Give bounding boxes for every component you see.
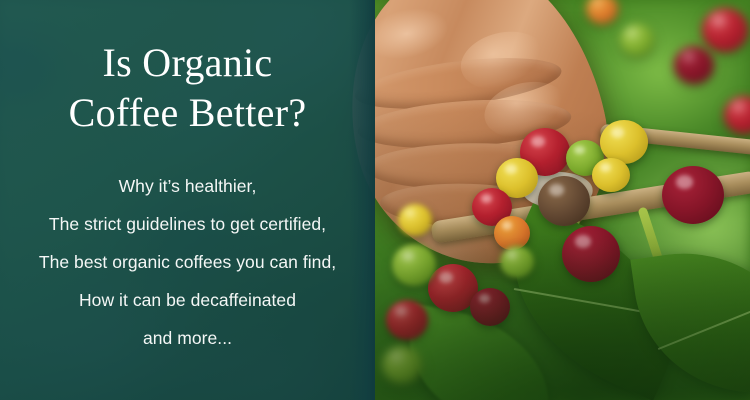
subheadline-line-5: and more... bbox=[39, 319, 336, 357]
panel-content: Is Organic Coffee Better? Why it’s healt… bbox=[0, 0, 375, 400]
subheadline-line-4: How it can be decaffeinated bbox=[39, 281, 336, 319]
subheadline-line-1: Why it’s healthier, bbox=[39, 167, 336, 205]
subheadline: Why it’s healthier, The strict guideline… bbox=[31, 167, 344, 357]
headline-line-1: Is Organic bbox=[69, 38, 307, 88]
hero-banner: Is Organic Coffee Better? Why it’s healt… bbox=[0, 0, 750, 400]
headline-line-2: Coffee Better? bbox=[69, 88, 307, 138]
text-panel: Is Organic Coffee Better? Why it’s healt… bbox=[0, 0, 375, 400]
subheadline-line-2: The strict guidelines to get certified, bbox=[39, 205, 336, 243]
page-title: Is Organic Coffee Better? bbox=[55, 38, 321, 138]
subheadline-line-3: The best organic coffees you can find, bbox=[39, 243, 336, 281]
